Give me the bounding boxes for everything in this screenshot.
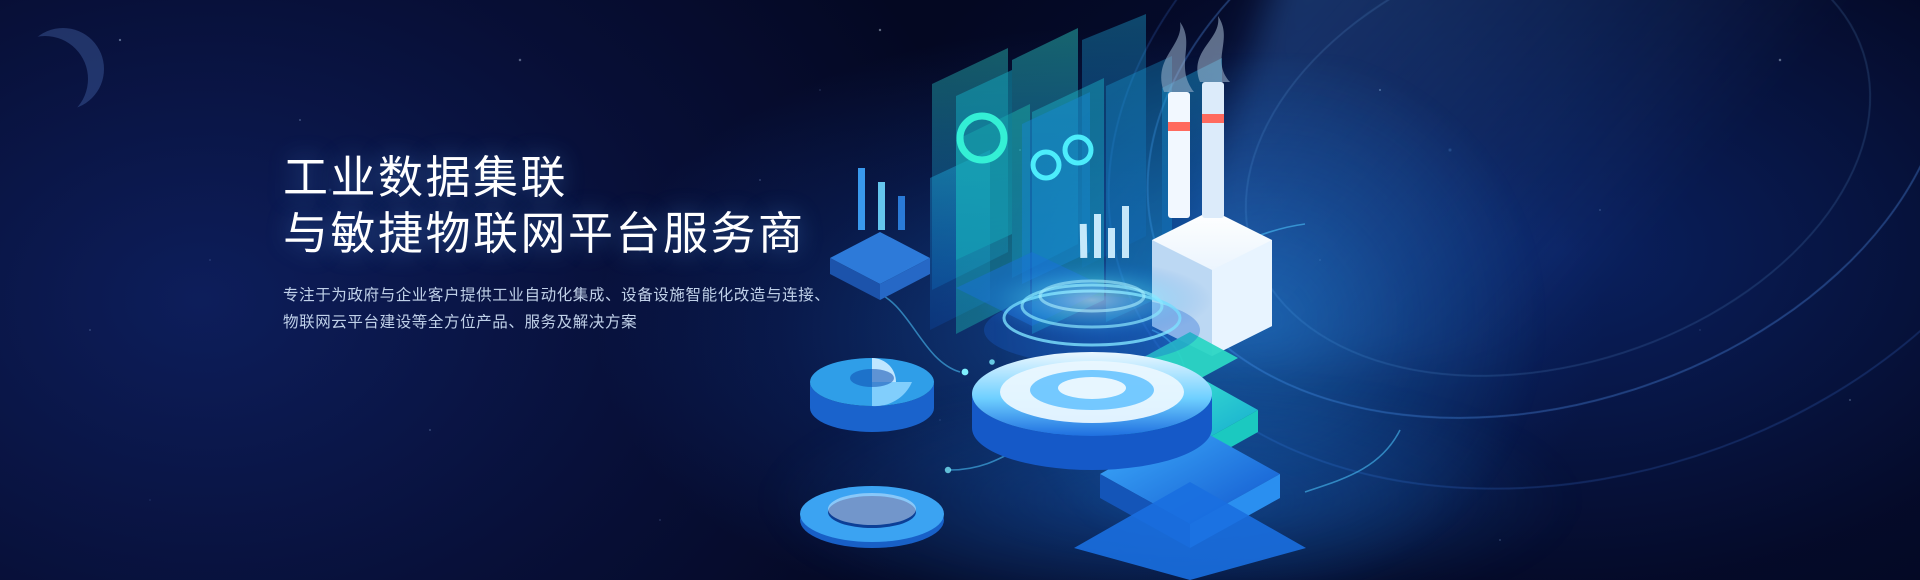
illustration-svg: [760, 0, 1920, 580]
data-cylinder-platform: [972, 260, 1212, 470]
crescent-moon-icon: [22, 28, 104, 110]
cloud-disc: [810, 358, 934, 432]
iot-illustration: [760, 0, 1920, 580]
router-device: [830, 168, 930, 300]
ring-device: [800, 486, 944, 548]
hero-banner: 工业数据集联 与敏捷物联网平台服务商 专注于为政府与企业客户提供工业自动化集成、…: [0, 0, 1920, 580]
